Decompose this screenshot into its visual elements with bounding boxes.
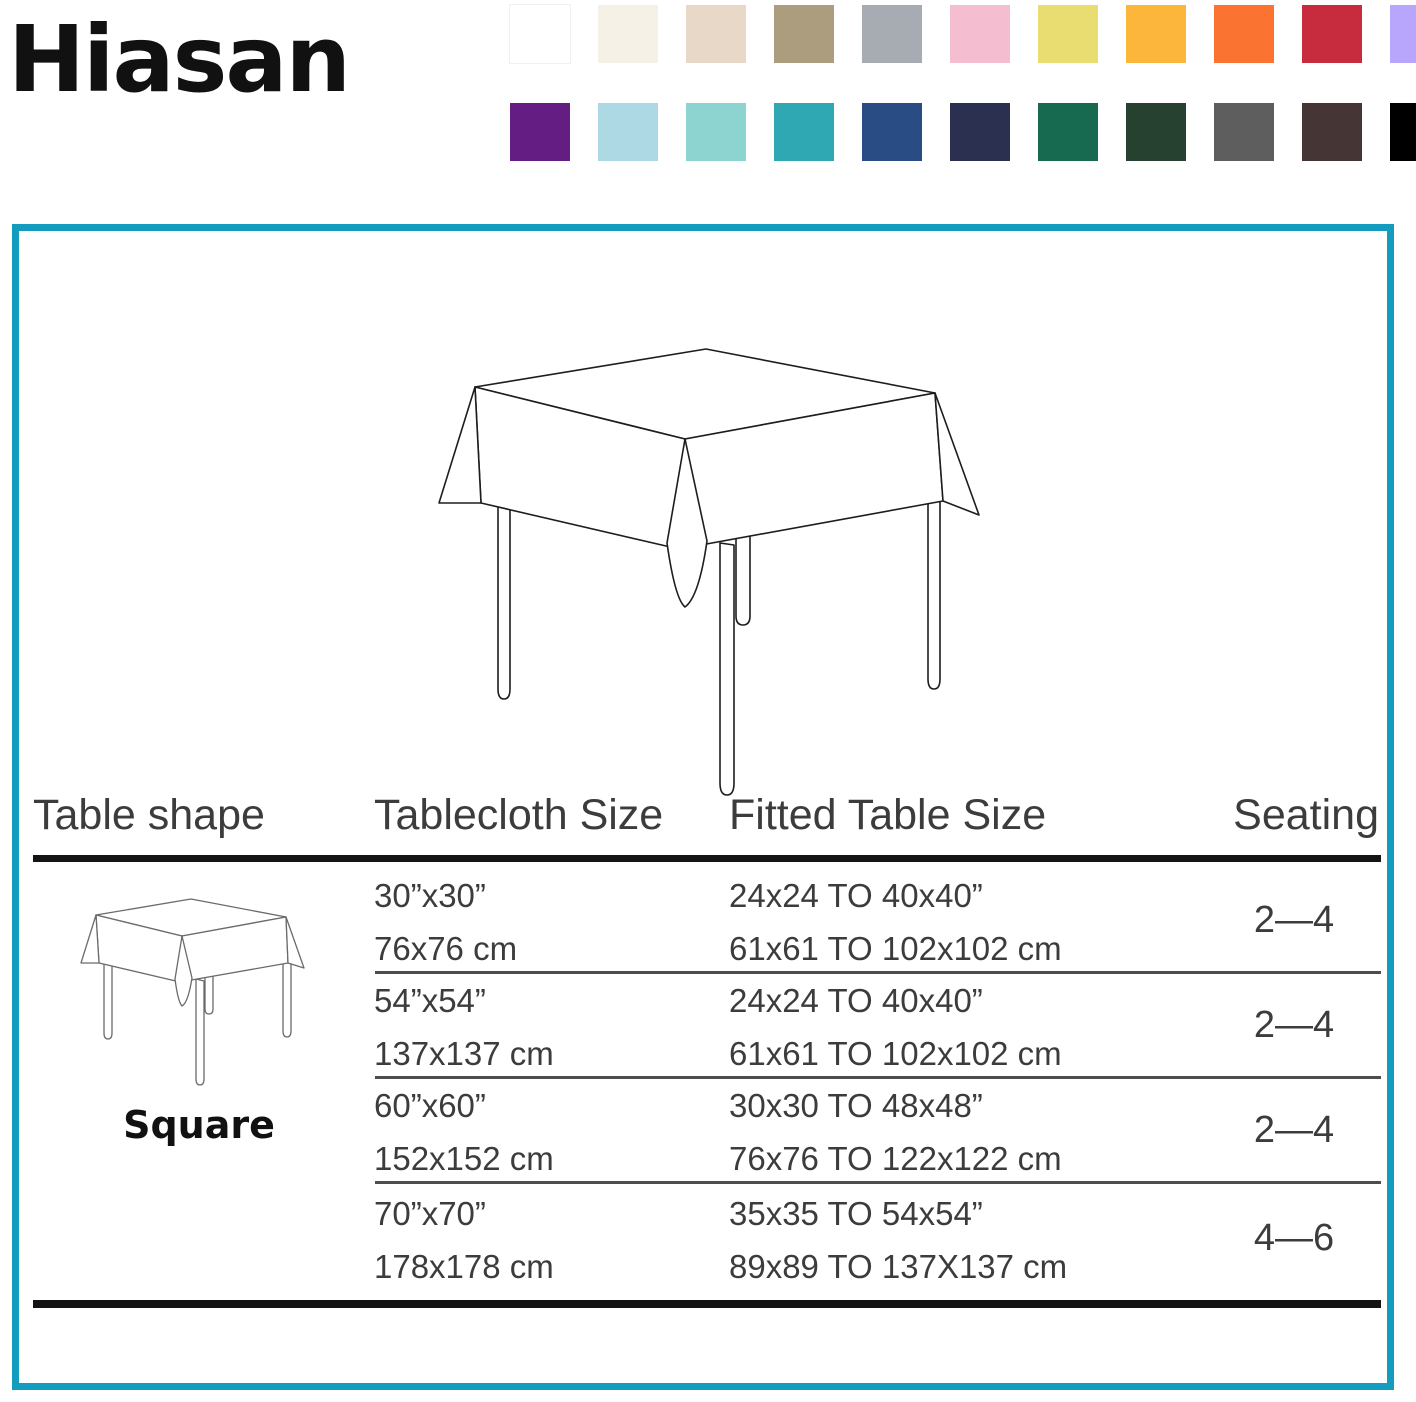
table-row: 30x30 TO 48x48” 76x76 TO 122x122 cm [729, 1089, 1209, 1176]
color-swatch-yellow[interactable] [1038, 5, 1098, 63]
table-row: 70”x70” 178x178 cm [374, 1197, 714, 1284]
color-swatch-pink[interactable] [950, 5, 1010, 63]
color-swatch-white[interactable] [510, 5, 570, 63]
fitted-size-inches: 30x30 TO 48x48” [729, 1087, 983, 1124]
table-bottom-rule [33, 1300, 1381, 1308]
fitted-size-cm: 61x61 TO 102x102 cm [729, 1037, 1209, 1072]
color-swatch-red[interactable] [1302, 5, 1362, 63]
square-table-with-tablecloth-icon [74, 891, 324, 1091]
color-swatch-gray[interactable] [862, 5, 922, 63]
row-divider-rule [375, 971, 1381, 974]
color-swatch-orange[interactable] [1214, 5, 1274, 63]
color-swatch-taupe[interactable] [774, 5, 834, 63]
color-swatch-lavender[interactable] [1390, 5, 1416, 63]
color-swatch-aqua[interactable] [686, 103, 746, 161]
seating-value: 2—4 [1209, 1004, 1379, 1047]
fitted-size-cm: 89x89 TO 137X137 cm [729, 1250, 1209, 1285]
column-header-fitted-table-size: Fitted Table Size [729, 791, 1209, 840]
size-table: Table shape Tablecloth Size Fitted Table… [19, 791, 1387, 1331]
color-swatch-forest-green[interactable] [1126, 103, 1186, 161]
color-swatch-grid [510, 5, 1410, 165]
tablecloth-size-inches: 70”x70” [374, 1195, 486, 1232]
color-swatch-emerald[interactable] [1038, 103, 1098, 161]
brand-header-bar: Hiasan [0, 0, 1416, 200]
table-shape-cell: Square [49, 891, 349, 1147]
color-swatch-gold[interactable] [1126, 5, 1186, 63]
row-divider-rule [375, 1076, 1381, 1079]
size-chart-panel: Table shape Tablecloth Size Fitted Table… [12, 224, 1394, 1390]
column-header-table-shape: Table shape [33, 791, 363, 840]
table-row: 24x24 TO 40x40” 61x61 TO 102x102 cm [729, 984, 1209, 1071]
header-divider-rule [33, 855, 1381, 862]
color-swatch-navy-blue[interactable] [862, 103, 922, 161]
table-shape-label: Square [49, 1103, 349, 1147]
tablecloth-size-cm: 76x76 cm [374, 932, 714, 967]
color-swatch-cream[interactable] [598, 5, 658, 63]
fitted-size-inches: 24x24 TO 40x40” [729, 877, 983, 914]
seating-value: 2—4 [1209, 899, 1379, 942]
column-header-tablecloth-size: Tablecloth Size [374, 791, 714, 840]
fitted-size-inches: 24x24 TO 40x40” [729, 982, 983, 1019]
brand-logo: Hiasan [8, 14, 349, 106]
color-swatch-dark-brown[interactable] [1302, 103, 1362, 161]
color-swatch-dark-navy[interactable] [950, 103, 1010, 161]
tablecloth-size-inches: 60”x60” [374, 1087, 486, 1124]
color-swatch-teal[interactable] [774, 103, 834, 161]
table-row: 54”x54” 137x137 cm [374, 984, 714, 1071]
color-swatch-light-blue[interactable] [598, 103, 658, 161]
color-swatch-purple[interactable] [510, 103, 570, 161]
fitted-size-cm: 61x61 TO 102x102 cm [729, 932, 1209, 967]
color-swatch-black[interactable] [1390, 103, 1416, 161]
table-row: 30”x30” 76x76 cm [374, 879, 714, 966]
color-swatch-dark-gray[interactable] [1214, 103, 1274, 161]
tablecloth-size-cm: 178x178 cm [374, 1250, 714, 1285]
color-swatch-beige[interactable] [686, 5, 746, 63]
tablecloth-size-inches: 54”x54” [374, 982, 486, 1019]
tablecloth-size-cm: 137x137 cm [374, 1037, 714, 1072]
row-divider-rule [375, 1181, 1381, 1184]
column-header-seating: Seating [1209, 791, 1379, 840]
table-row: 24x24 TO 40x40” 61x61 TO 102x102 cm [729, 879, 1209, 966]
table-row: 35x35 TO 54x54” 89x89 TO 137X137 cm [729, 1197, 1209, 1284]
table-row: 60”x60” 152x152 cm [374, 1089, 714, 1176]
tablecloth-size-cm: 152x152 cm [374, 1142, 714, 1177]
seating-value: 4—6 [1209, 1217, 1379, 1260]
seating-value: 2—4 [1209, 1109, 1379, 1152]
square-table-with-tablecloth-illustration [423, 331, 1023, 811]
fitted-size-cm: 76x76 TO 122x122 cm [729, 1142, 1209, 1177]
tablecloth-size-inches: 30”x30” [374, 877, 486, 914]
fitted-size-inches: 35x35 TO 54x54” [729, 1195, 983, 1232]
